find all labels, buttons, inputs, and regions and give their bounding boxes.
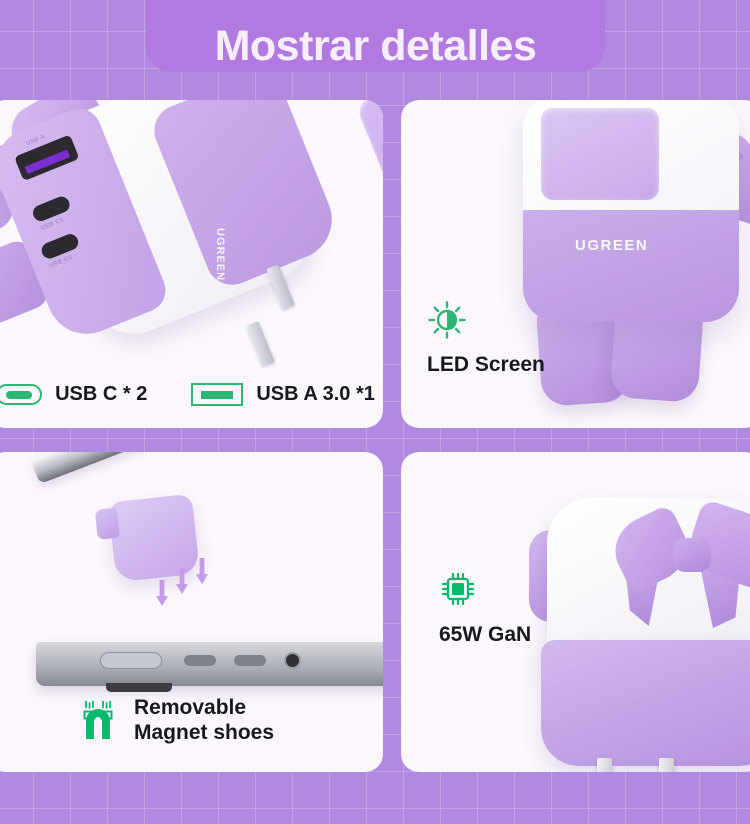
feature-card-ports: USB A USB C1 USB C2 UGREEN USB C * 2 USB… <box>0 100 383 428</box>
charger-body: USB A USB C1 USB C2 <box>0 100 335 390</box>
feature-label-magnet-shoes: Removable Magnet shoes <box>134 695 274 746</box>
charger-body: UGREEN <box>523 100 739 322</box>
port-legend: USB C * 2 USB A 3.0 *1 <box>0 383 383 406</box>
headphone-jack <box>284 652 301 669</box>
brightness-icon <box>427 300 467 340</box>
laptop-usb-c-port <box>184 655 216 666</box>
plug-prong <box>597 758 612 772</box>
brand-logo: UGREEN <box>214 228 226 281</box>
charger-led-screen <box>355 100 383 222</box>
feature-magnet-shoes: Removable Magnet shoes <box>80 695 274 746</box>
down-arrow-icon <box>196 558 208 584</box>
plug-prong <box>659 758 674 772</box>
charger-ports-illustration: USB A USB C1 USB C2 UGREEN <box>0 100 383 428</box>
laptop-lid <box>31 452 383 484</box>
feature-label-led-screen: LED Screen <box>427 352 545 378</box>
laptop-foot <box>106 683 172 692</box>
page-title-badge: Mostrar detalles <box>146 0 605 72</box>
down-arrow-icon <box>156 580 168 606</box>
feature-gan: 65W GaN <box>439 570 531 648</box>
brand-logo: UGREEN <box>575 237 648 254</box>
charger-lower-body <box>541 640 750 766</box>
feature-card-magnet-shoes: Removable Magnet shoes <box>0 452 383 772</box>
charger-lower-body <box>523 210 739 322</box>
usb-c-port-icon <box>0 384 42 405</box>
laptop-usb-c-port <box>234 655 266 666</box>
usb-c2-port <box>39 232 80 261</box>
legend-item-usb-c: USB C * 2 <box>0 383 147 406</box>
magsafe-port <box>100 652 162 669</box>
usb-c1-port <box>31 194 72 223</box>
legend-label-usb-a: USB A 3.0 *1 <box>256 383 375 406</box>
ugreen-charger-illustration: UGREEN <box>401 100 750 428</box>
charger-led-screen <box>541 108 659 200</box>
feature-card-led-screen: UGREEN <box>401 100 750 428</box>
feature-label-gan: 65W GaN <box>439 622 531 648</box>
feature-card-gan: 65W GaN <box>401 452 750 772</box>
usb-a-port-icon <box>191 383 243 406</box>
feature-led-screen: LED Screen <box>427 300 545 378</box>
chip-icon <box>439 570 477 608</box>
plug-prong <box>246 321 275 367</box>
usb-a-port <box>14 134 79 181</box>
removable-magnet-shoe <box>108 494 200 582</box>
page-title: Mostrar detalles <box>215 25 537 68</box>
infographic-page: Mostrar detalles USB A USB C1 <box>0 0 750 824</box>
magnet-icon <box>80 699 116 741</box>
legend-label-usb-c: USB C * 2 <box>55 383 147 406</box>
legend-item-usb-a: USB A 3.0 *1 <box>191 383 375 406</box>
bow-knot <box>673 538 711 572</box>
